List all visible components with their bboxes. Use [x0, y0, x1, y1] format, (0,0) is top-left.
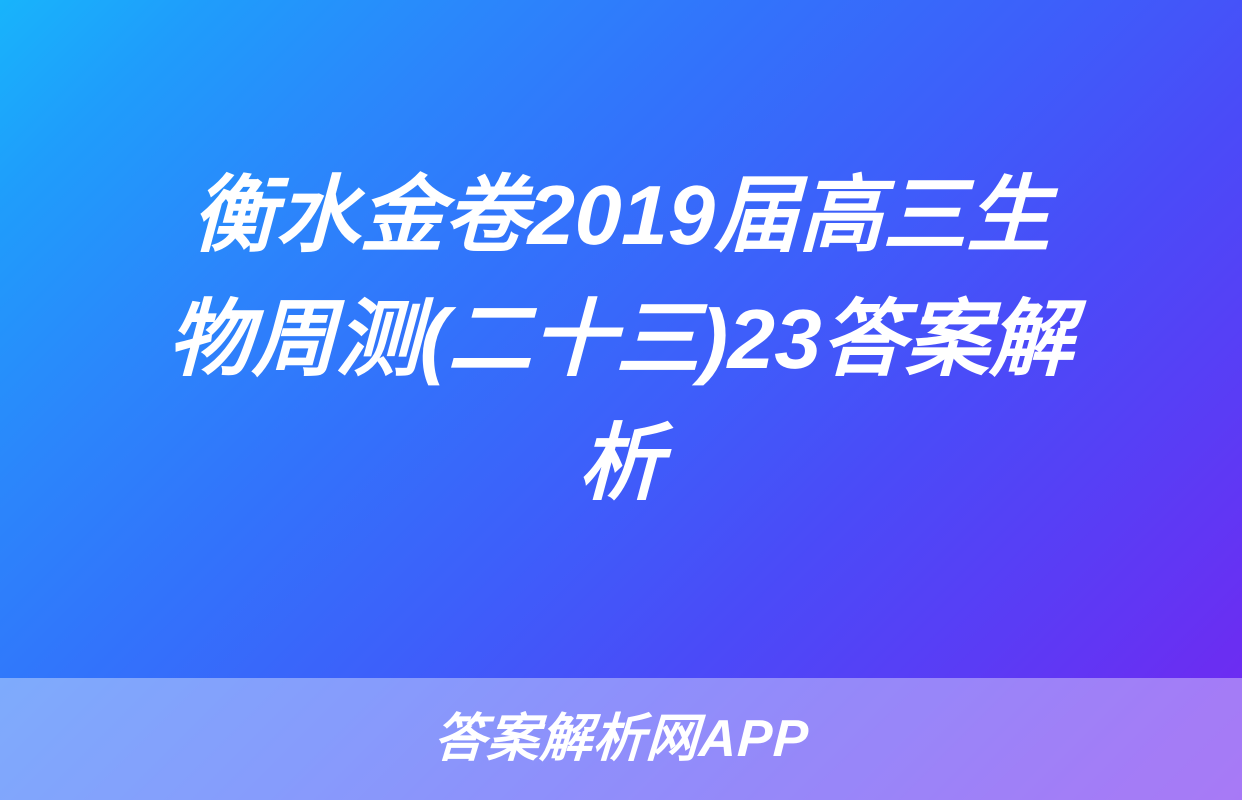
title-line-1: 衡水金卷2019届高三生	[190, 153, 1051, 277]
bottom-watermark-band: 答案解析网APP	[0, 678, 1242, 800]
title-line-3: 析	[578, 401, 664, 525]
app-watermark-label: 答案解析网APP	[432, 713, 810, 765]
share-card: 衡水金卷2019届高三生 物周测(二十三)23答案解 析 答案解析网APP	[0, 0, 1242, 800]
title-line-2: 物周测(二十三)23答案解	[167, 277, 1075, 401]
title-block: 衡水金卷2019届高三生 物周测(二十三)23答案解 析	[0, 0, 1242, 678]
